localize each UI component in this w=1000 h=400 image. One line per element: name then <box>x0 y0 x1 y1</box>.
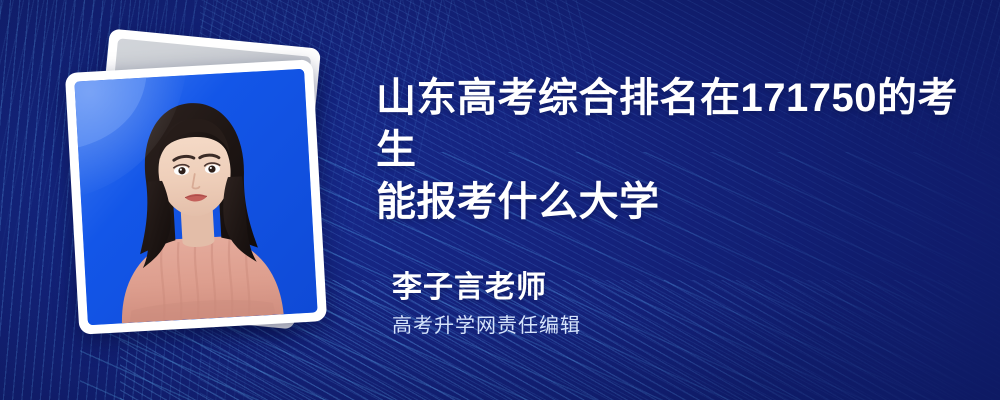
title-line-2: 能报考什么大学 <box>376 176 966 228</box>
photo-card-stack <box>58 36 338 348</box>
title-line-1: 山东高考综合排名在171750的考生 <box>376 72 966 176</box>
photo-card-front <box>65 59 327 334</box>
author-name: 李子言老师 <box>392 268 581 308</box>
avatar <box>74 69 317 325</box>
article-cover-banner: 山东高考综合排名在171750的考生 能报考什么大学 李子言老师 高考升学网责任… <box>0 0 1000 400</box>
page-title: 山东高考综合排名在171750的考生 能报考什么大学 <box>376 72 966 228</box>
author-role: 高考升学网责任编辑 <box>392 312 581 340</box>
byline: 李子言老师 高考升学网责任编辑 <box>392 268 581 340</box>
